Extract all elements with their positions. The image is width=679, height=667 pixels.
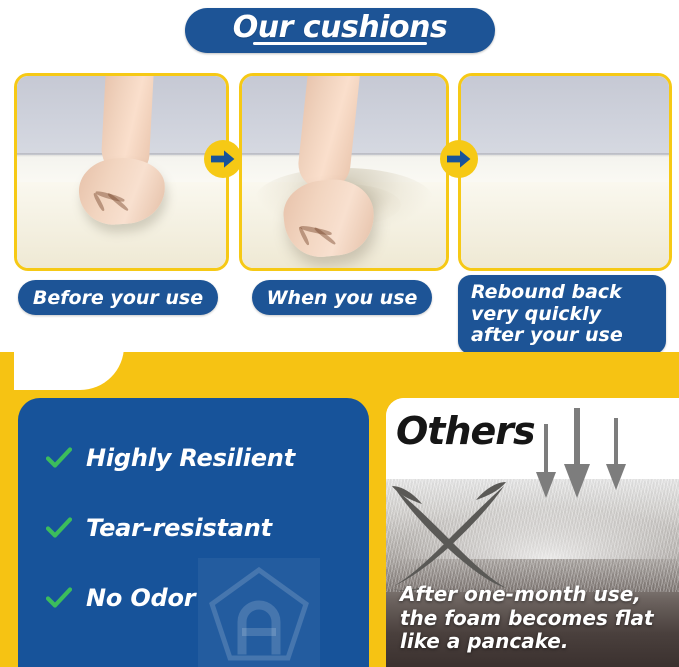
others-comparison-card: Others After one-month use, the f (386, 398, 679, 667)
caption-line: Rebound back (471, 282, 622, 304)
process-caption-1: Before your use (18, 280, 218, 315)
foam-body (461, 182, 669, 268)
feature-item: Tear-resistant (46, 514, 359, 542)
check-icon (46, 517, 72, 539)
photo-background-wall (461, 76, 669, 160)
process-image-panel-3 (458, 73, 672, 271)
others-caption: After one-month use, the foam becomes fl… (400, 583, 673, 653)
check-icon (46, 587, 72, 609)
page-title-banner: Our cushions (185, 8, 495, 53)
frame-corner-notch (14, 346, 124, 390)
caption-line: After one-month use, (400, 583, 673, 606)
feature-label: No Odor (86, 584, 195, 612)
feature-item: Highly Resilient (46, 444, 359, 472)
caption-line: the foam becomes flat (400, 607, 673, 630)
others-title: Others (396, 412, 535, 450)
feature-label: Highly Resilient (86, 444, 295, 472)
title-underline (253, 42, 427, 45)
process-caption-3: Rebound back very quickly after your use (458, 275, 666, 354)
page-title: Our cushions (233, 13, 448, 43)
brush-x-icon (388, 476, 528, 596)
pentagon-house-logo-icon (198, 558, 320, 667)
photo-before-use (17, 76, 226, 268)
arrow-right-icon (204, 140, 242, 178)
down-arrow-icon (526, 406, 646, 511)
process-caption-2: When you use (252, 280, 432, 315)
feature-label: Tear-resistant (86, 514, 272, 542)
check-icon (46, 447, 72, 469)
process-image-panel-2 (239, 73, 449, 271)
infographic-root: Our cushions (0, 0, 679, 667)
photo-when-you-use (242, 76, 446, 268)
caption-line: like a pancake. (400, 630, 673, 653)
process-image-panel-1 (14, 73, 229, 271)
caption-line: after your use (471, 325, 623, 347)
caption-line: very quickly (471, 304, 601, 326)
photo-rebound (461, 76, 669, 268)
foam-edge-shadow (461, 153, 669, 157)
arrow-right-icon (440, 140, 478, 178)
